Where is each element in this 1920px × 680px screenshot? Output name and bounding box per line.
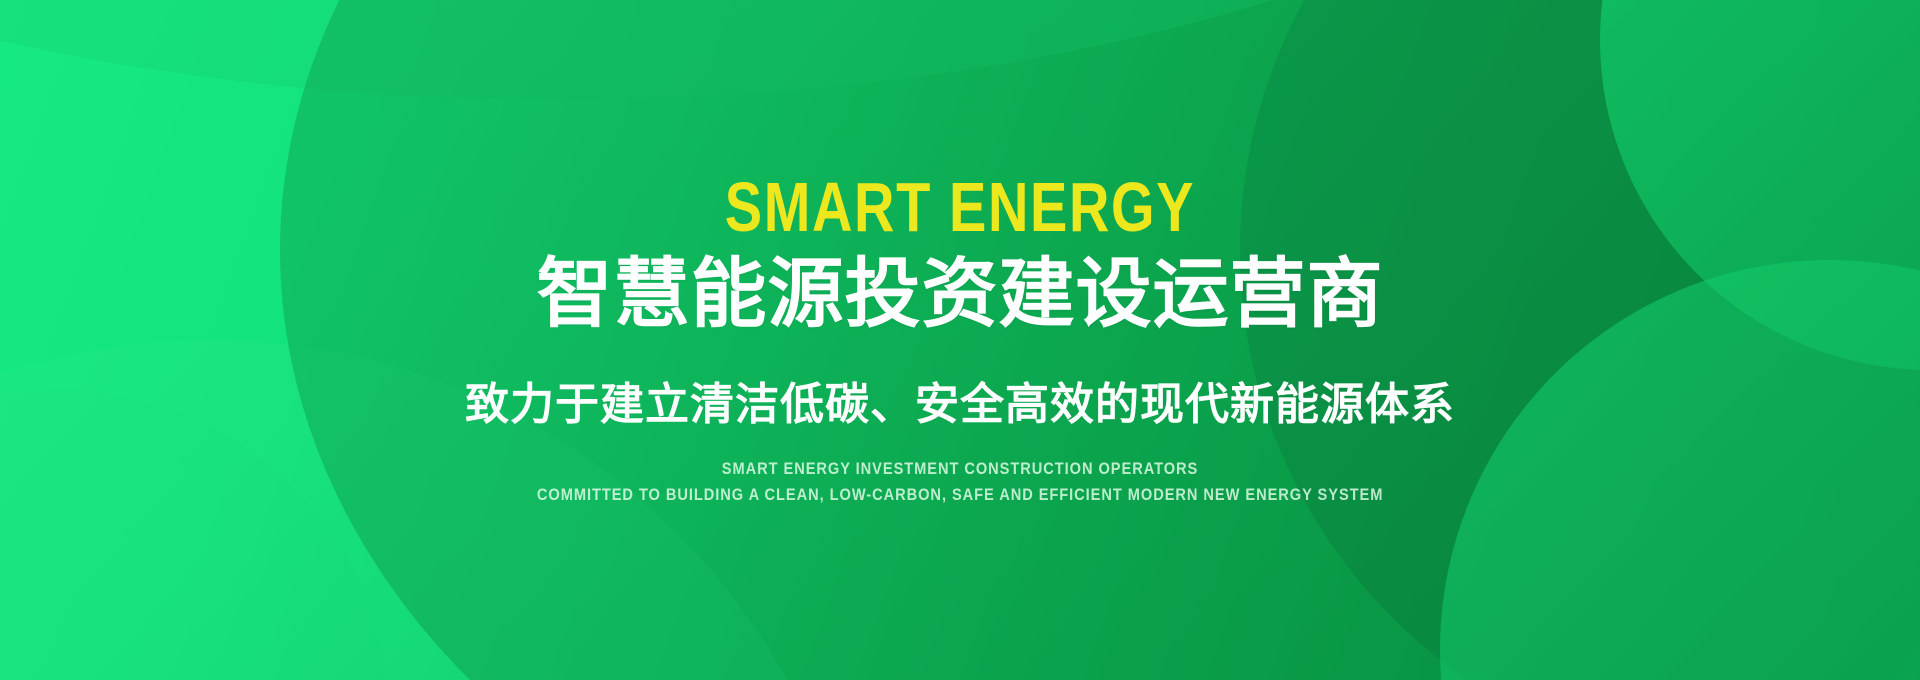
banner-headline-chinese: 智慧能源投资建设运营商 xyxy=(537,254,1384,334)
banner-caption-line-1: SMART ENERGY INVESTMENT CONSTRUCTION OPE… xyxy=(722,456,1198,482)
banner-headline-english: SMART ENERGY xyxy=(725,172,1195,242)
banner-content: SMART ENERGY 智慧能源投资建设运营商 致力于建立清洁低碳、安全高效的… xyxy=(0,0,1920,680)
banner-subtitle-chinese: 致力于建立清洁低碳、安全高效的现代新能源体系 xyxy=(465,381,1455,429)
banner-caption-line-2: COMMITTED TO BUILDING A CLEAN, LOW-CARBO… xyxy=(537,482,1383,508)
smart-energy-hero-banner: SMART ENERGY 智慧能源投资建设运营商 致力于建立清洁低碳、安全高效的… xyxy=(0,0,1920,680)
